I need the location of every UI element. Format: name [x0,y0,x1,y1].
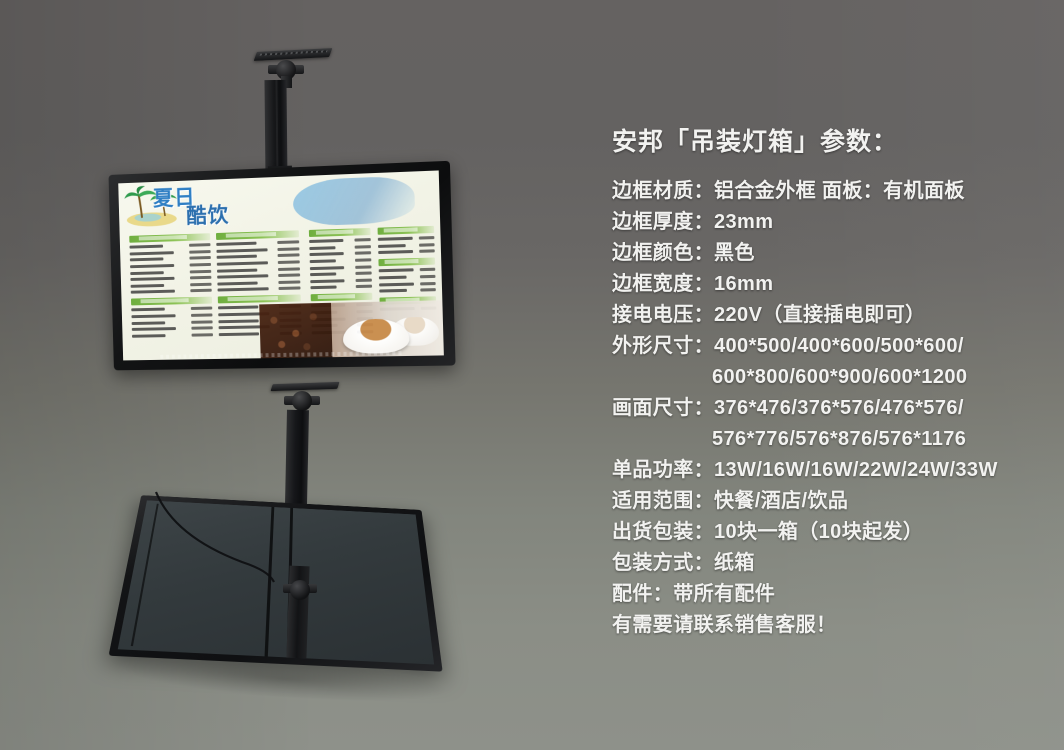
product-spec-image: 夏日 酷饮 [0,0,1064,750]
spec-line: 适用范围：快餐/酒店/饮品 [612,486,1052,517]
menu-item-name [219,319,259,323]
menu-section-header [378,258,435,267]
menu-item-price [189,263,210,267]
rear-back-plate [118,500,434,664]
menu-item-name [217,248,268,253]
menu-item-row [309,244,371,251]
menu-section-header [310,293,372,302]
water-splash-graphic [292,176,415,227]
menu-item-name [378,269,414,273]
rear-edge-line [131,503,159,646]
menu-section [378,258,435,294]
menu-item-price [419,243,434,247]
menu-item-price [278,254,300,258]
menu-item-price [189,243,210,247]
menu-item-name [132,334,166,338]
menu-item-row [378,267,435,274]
menu-item-row [131,319,212,326]
menu-item-price [419,236,434,240]
pivot-ball [290,580,310,600]
menu-item-name [218,288,269,292]
rear-panel-pivot-joint [283,578,317,602]
menu-item-price [421,288,436,291]
menu-item-row [378,242,435,249]
menu-item-price [420,275,435,278]
menu-item-name [216,242,256,246]
menu-item-price [420,282,435,285]
menu-item-name [131,321,165,325]
menu-item-name [310,273,337,277]
menu-item-name [378,250,414,254]
menu-item-price [355,238,371,242]
aluminum-frame: 夏日 酷饮 [109,161,456,371]
spec-text-block: 安邦「吊装灯箱」参数： 边框材质：铝合金外框 面板：有机面板边框厚度：23mm边… [612,122,1052,641]
menu-item-name [377,237,413,241]
menu-item-row [130,288,211,295]
menu-item-name [218,306,258,310]
menu-item-price [191,333,212,336]
menu-item-price [355,252,371,256]
menu-item-row [309,237,371,244]
light-box-rear-panel [109,495,443,672]
menu-item-row [310,271,372,278]
menu-section-header [377,226,434,235]
menu-item-price [279,280,301,284]
spec-line: 边框颜色：黑色 [612,238,1052,269]
menu-item-name [131,314,175,318]
spec-line: 有需要请联系销售客服！ [612,610,1052,641]
spec-line: 边框材质：铝合金外框 面板：有机面板 [612,176,1052,207]
menu-item-price [419,250,434,253]
spec-line: 出货包装：10块一箱（10块起发） [612,517,1052,548]
spec-line: 接电电压：220V（直接插电即可） [612,300,1052,331]
menu-section-header [131,297,212,306]
menu-item-name [132,327,176,331]
menu-headline-line2: 酷饮 [186,201,301,227]
menu-item-name [130,290,174,294]
menu-item-name [379,282,415,286]
menu-section-header [309,228,371,237]
menu-item-price [278,260,300,264]
menu-item-name [378,244,406,248]
menu-item-name [130,277,174,281]
menu-item-price [278,274,300,278]
menu-item-price [278,241,300,245]
pivot-ball [292,391,312,411]
menu-item-row [309,257,371,264]
spec-line-list: 边框材质：铝合金外框 面板：有机面板边框厚度：23mm边框颜色：黑色边框宽度：1… [612,176,1052,641]
menu-section [309,228,373,290]
menu-column-1 [129,234,213,343]
menu-item-row [378,249,435,256]
menu-section [377,226,434,255]
menu-item-price [356,278,372,281]
rear-aluminum-frame [109,495,443,672]
menu-item-price [191,314,212,317]
menu-item-name [219,332,259,336]
menu-item-name [309,253,344,257]
menu-item-row [131,313,212,320]
menu-item-price [355,245,371,249]
menu-item-price [355,258,371,261]
spec-line: 包装方式：纸箱 [612,548,1052,579]
spec-line: 外形尺寸：400*500/400*600/500*600/ [612,331,1052,362]
spec-line: 576*776/576*876/576*1176 [612,424,1052,455]
menu-panel: 夏日 酷饮 [118,170,444,360]
spec-line: 配件：带所有配件 [612,579,1052,610]
menu-item-price [190,289,211,292]
menu-item-name [379,289,407,293]
menu-item-price [190,270,211,274]
spec-title: 安邦「吊装灯箱」参数： [612,122,1052,158]
menu-section [131,297,213,338]
menu-item-name [217,275,268,279]
product-assembly: 夏日 酷饮 [0,0,612,750]
menu-item-row [310,277,372,284]
coffee-photo [259,300,444,358]
menu-item-name [309,239,344,243]
menu-item-name [130,258,164,262]
menu-item-name [130,271,164,275]
spec-line: 画面尺寸：376*476/376*576/476*576/ [612,393,1052,424]
menu-item-price [279,287,301,291]
coffee-beans [259,302,333,358]
spec-line: 单品功率：13W/16W/16W/22W/24W/33W [612,455,1052,486]
menu-section [216,231,301,293]
menu-item-row [379,281,436,288]
menu-item-name [310,266,345,270]
menu-item-name [131,308,165,312]
menu-item-name [217,268,257,272]
menu-item-row [310,284,372,291]
menu-item-price [189,250,210,254]
menu-item-row [131,326,212,333]
menu-item-price [356,285,372,288]
menu-item-name [217,281,257,285]
menu-item-name [129,251,173,255]
menu-item-row [218,286,301,293]
menu-item-price [191,320,212,323]
menu-item-name [309,246,336,250]
menu-item-row [378,274,435,281]
menu-item-price [356,272,372,275]
spec-line: 600*800/600*900/600*1200 [612,362,1052,393]
menu-item-row [377,235,434,242]
menu-light-box: 夏日 酷饮 [109,161,456,371]
menu-item-price [189,256,210,260]
menu-headline: 夏日 酷饮 [153,182,301,231]
menu-item-name [130,264,174,268]
menu-item-name [217,255,257,259]
menu-item-price [278,247,300,251]
menu-item-price [190,283,211,287]
menu-item-name [310,279,345,283]
menu-item-row [132,332,213,338]
menu-item-name [130,284,164,288]
menu-section [129,234,212,296]
menu-item-price [420,268,435,271]
menu-item-name [310,286,337,290]
menu-section-header [129,234,210,244]
menu-section-header [216,231,299,241]
menu-item-name [129,245,163,249]
spec-line: 边框厚度：23mm [612,207,1052,238]
menu-item-name [309,259,336,263]
rear-seam-left [264,507,274,657]
menu-item-row [379,287,436,293]
menu-item-name [217,261,268,265]
menu-item-price [355,265,371,268]
menu-item-name [379,276,407,280]
menu-item-row [131,306,212,313]
menu-item-price [278,267,300,271]
menu-item-row [310,264,372,271]
menu-item-row [309,251,371,258]
menu-item-price [191,307,212,310]
menu-item-price [190,276,211,280]
spec-line: 边框宽度：16mm [612,269,1052,300]
menu-item-price [191,327,212,330]
